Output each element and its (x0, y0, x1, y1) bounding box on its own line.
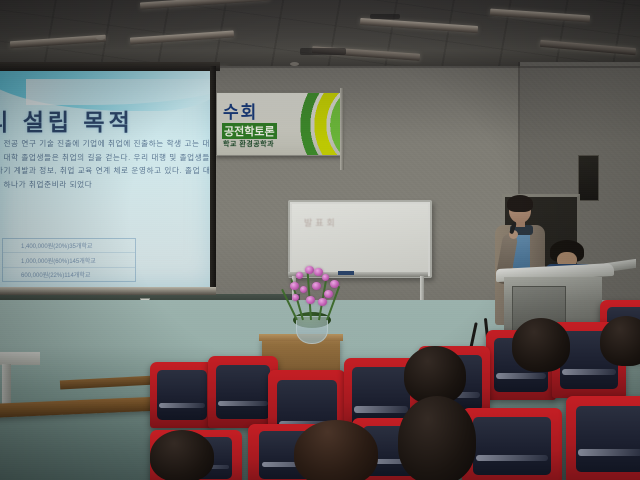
lecture-hall-photo: 아리 설립 목적 업해고 전공 연구 기술 진출에 기업에 취업에 진출하는 학… (0, 0, 640, 480)
presenter-hair (507, 195, 533, 212)
slide-table: 1,400,000원(20%)35개학교 1,000,000원(60%)145개… (2, 238, 136, 282)
banner-line-1: 수회 (223, 98, 258, 123)
audience-head (512, 318, 570, 372)
banner-support-pole (340, 88, 344, 170)
orchid-bloom (296, 272, 303, 279)
slide-table-row: 1,000,000원(60%)145개학교 (3, 253, 135, 267)
projected-slide: 아리 설립 목적 업해고 전공 연구 기술 진출에 기업에 취업에 진출하는 학… (0, 71, 214, 287)
wall-speaker-icon (578, 155, 599, 201)
audience-head (398, 396, 476, 480)
orchid-bloom (318, 298, 327, 306)
seat-highlight (496, 373, 546, 379)
orchid-bloom (305, 266, 314, 274)
ceiling-sprinkler (96, 36, 105, 40)
screen-roller-bar (0, 62, 220, 71)
banner-line-2: 공전학토론 (222, 123, 277, 139)
seat-highlight (218, 401, 268, 407)
orchid-bloom (290, 282, 299, 290)
screen-bottom-bar (0, 287, 216, 295)
seat-highlight (578, 449, 640, 456)
seat-cushion (157, 370, 207, 420)
seat-cushion (576, 406, 640, 471)
slide-table-row: 600,000원(22%)114개학교 (3, 268, 135, 281)
orchid-bloom (300, 286, 307, 293)
auditorium-seat (150, 362, 214, 428)
audience-head (294, 420, 378, 480)
seat-highlight (159, 403, 205, 408)
seat-highlight (354, 406, 407, 412)
orchid-bloom (292, 294, 299, 301)
wall-ceiling-seam (220, 66, 640, 68)
audience-head (150, 430, 214, 480)
orchid-bloom (312, 282, 321, 290)
projection-screen: 아리 설립 목적 업해고 전공 연구 기술 진출에 기업에 취업에 진출하는 학… (0, 62, 220, 300)
ceiling-vent (300, 48, 346, 55)
auditorium-seat (566, 396, 640, 480)
orchid-bloom (330, 280, 339, 288)
audience-head (600, 316, 640, 366)
seat-cushion (216, 365, 271, 420)
whiteboard-writing: 발표회 (304, 216, 414, 229)
whiteboard-marker[interactable] (338, 271, 354, 275)
seat-highlight (476, 455, 548, 461)
orchid-bloom (324, 290, 333, 298)
slide-title: 아리 설립 목적 (0, 103, 212, 137)
banner-line-3: 학교 환경공학과 (223, 139, 274, 149)
event-banner: 수회 공전학토론 학교 환경공학과 (216, 92, 342, 156)
seat-highlight (562, 369, 615, 375)
slide-table-row: 1,400,000원(20%)35개학교 (3, 239, 135, 253)
ceiling-vent (370, 14, 400, 19)
glass-vase (296, 316, 328, 344)
auditorium-seat (462, 408, 562, 480)
slide-body-text: 업해고 전공 연구 기술 진출에 기업에 취업에 진출하는 학생 고는 대부분의… (0, 137, 214, 191)
orchid-bloom (322, 274, 329, 281)
orchid-bloom (306, 296, 315, 304)
whiteboard-surface (292, 204, 428, 274)
seat-cushion (473, 417, 551, 475)
